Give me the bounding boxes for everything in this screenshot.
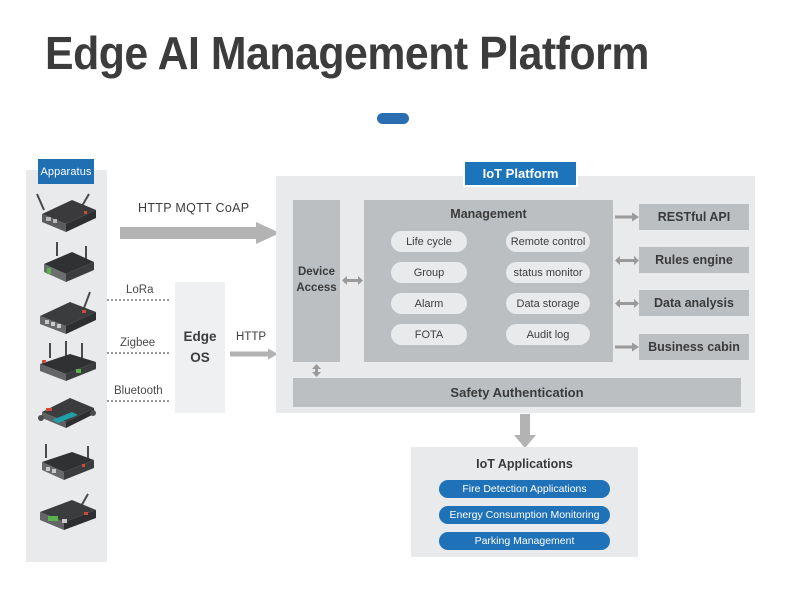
apparatus-badge: Apparatus [38, 159, 94, 184]
iot-platform-badge: IoT Platform [463, 160, 578, 187]
mgmt-item-data-storage[interactable]: Data storage [506, 293, 590, 314]
edge-to-platform-arrow [230, 348, 278, 360]
edge-os-line1: Edge [183, 327, 216, 348]
wireless-label-lora: LoRa [126, 284, 154, 296]
edge-device-5-image [32, 388, 102, 436]
edge-device-4-image [32, 338, 102, 386]
device-access-management-arrow [342, 275, 363, 286]
edge-os-box: Edge OS [175, 282, 225, 413]
wireless-line-zigbee [107, 352, 169, 354]
output-box-restful-api[interactable]: RESTful API [639, 204, 749, 230]
output-box-data-analysis[interactable]: Data analysis [639, 290, 749, 316]
apparatus-to-platform-arrow [120, 222, 280, 244]
output-box-business-cabin[interactable]: Business cabin [639, 334, 749, 360]
mgmt-item-remote-control[interactable]: Remote control [506, 231, 590, 252]
arrow-to-business-cabin [615, 342, 639, 352]
edge-device-2-image [32, 240, 102, 288]
edge-device-1-image [32, 190, 102, 238]
device-access-line2: Access [296, 281, 336, 297]
title-accent-pill [377, 113, 409, 124]
edge-os-line2: OS [190, 348, 210, 369]
edge-device-7-image [32, 488, 102, 536]
app-item-fire-detection[interactable]: Fire Detection Applications [439, 480, 610, 498]
arrow-to-rules-engine [615, 255, 639, 266]
mgmt-item-alarm[interactable]: Alarm [391, 293, 467, 314]
mgmt-item-status-monitor[interactable]: status monitor [506, 262, 590, 283]
device-access-box: Device Access [293, 200, 340, 362]
wireless-label-zigbee: Zigbee [120, 337, 155, 349]
device-access-line1: Device [298, 265, 335, 281]
app-item-parking-management[interactable]: Parking Management [439, 532, 610, 550]
iot-applications-panel: IoT Applications Fire Detection Applicat… [411, 447, 638, 557]
mgmt-item-group[interactable]: Group [391, 262, 467, 283]
device-access-safety-arrow [311, 364, 322, 377]
page-title: Edge AI Management Platform [45, 26, 649, 80]
mgmt-item-life-cycle[interactable]: Life cycle [391, 231, 467, 252]
management-title: Management [364, 207, 613, 221]
arrow-to-restful-api [615, 212, 639, 222]
platform-to-applications-arrow [514, 414, 536, 448]
diagram-canvas: Edge AI Management Platform Apparatus [0, 0, 790, 611]
arrow-to-data-analysis [615, 298, 639, 309]
safety-authentication-bar: Safety Authentication [293, 378, 741, 407]
edge-to-platform-label: HTTP [236, 331, 266, 343]
mgmt-item-fota[interactable]: FOTA [391, 324, 467, 345]
wireless-line-bluetooth [107, 400, 169, 402]
edge-device-6-image [32, 438, 102, 486]
output-box-rules-engine[interactable]: Rules engine [639, 247, 749, 273]
iot-applications-title: IoT Applications [411, 457, 638, 471]
management-box: Management Life cycle Group Alarm FOTA R… [364, 200, 613, 362]
mgmt-item-audit-log[interactable]: Audit log [506, 324, 590, 345]
top-protocol-label: HTTP MQTT CoAP [138, 201, 249, 215]
app-item-energy-consumption[interactable]: Energy Consumption Monitoring [439, 506, 610, 524]
edge-device-3-image [32, 290, 102, 338]
wireless-line-lora [107, 299, 169, 301]
wireless-label-bluetooth: Bluetooth [114, 385, 163, 397]
